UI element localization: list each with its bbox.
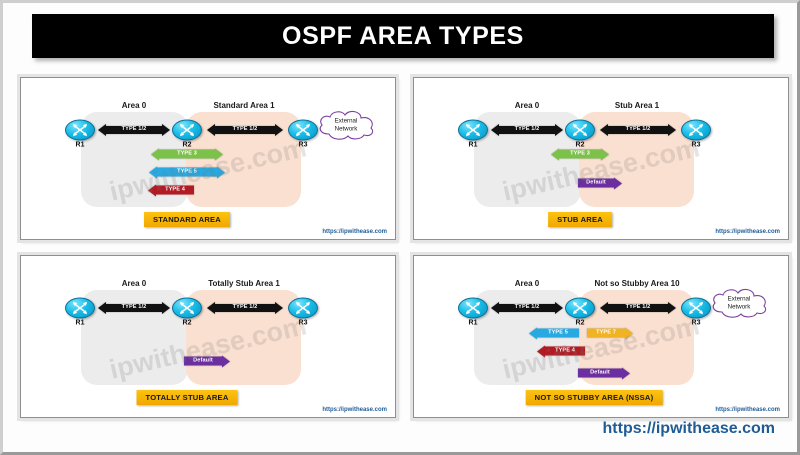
diagram-standard-area: Area 0Standard Area 1ipwithease.comR1R2R…: [21, 78, 395, 239]
external-network-cloud-icon: ExternalNetwork: [708, 286, 770, 320]
default-arrow: Default: [578, 179, 622, 188]
link-arrow-remote: TYPE 1/2: [207, 126, 283, 134]
router-arrows-icon: [681, 120, 711, 141]
panel-site-link[interactable]: https://ipwithease.com: [322, 229, 387, 235]
router-arrows-icon: [565, 298, 595, 319]
area-type-badge: STUB AREA: [548, 212, 612, 227]
default-arrow-right-head: [222, 355, 230, 367]
panel-site-link[interactable]: https://ipwithease.com: [322, 407, 387, 413]
link-arrow-core-right-head: [162, 302, 170, 314]
default-arrow-label: Default: [590, 370, 610, 376]
router-r2[interactable]: R2: [565, 120, 595, 141]
router-arrows-icon: [172, 120, 202, 141]
link-arrow-remote: TYPE 1/2: [600, 304, 676, 312]
link-arrow-remote-right-head: [275, 124, 283, 136]
router-r3-label: R3: [299, 320, 308, 327]
type-3-arrow-bar: TYPE 3: [559, 150, 601, 159]
panel-site-link[interactable]: https://ipwithease.com: [715, 407, 780, 413]
area-heading-core: Area 0: [515, 101, 539, 110]
default-arrow-bar: Default: [578, 179, 614, 188]
link-arrow-remote-bar: TYPE 1/2: [215, 304, 275, 312]
panel-stub-area: Area 0Stub Area 1ipwithease.comR1R2R3TYP…: [413, 77, 789, 240]
type-5-arrow: TYPE 5: [149, 168, 225, 177]
default-arrow-label: Default: [193, 358, 213, 364]
link-arrow-remote-left-head: [600, 124, 608, 136]
router-r1[interactable]: R1: [458, 120, 488, 141]
type-4-arrow-bar: TYPE 4: [545, 347, 585, 356]
external-network-line2: Network: [335, 125, 358, 132]
type-4-arrow-left-head: [537, 345, 545, 357]
area-type-badge: STANDARD AREA: [144, 212, 230, 227]
router-arrows-icon: [288, 298, 318, 319]
area-heading-core: Area 0: [515, 279, 539, 288]
router-arrows-icon: [172, 298, 202, 319]
link-arrow-core: TYPE 1/2: [98, 126, 170, 134]
link-arrow-core-bar: TYPE 1/2: [499, 126, 555, 134]
router-r2[interactable]: R2: [565, 298, 595, 319]
type-3-arrow-label: TYPE 3: [570, 151, 590, 157]
router-r3-label: R3: [692, 142, 701, 149]
router-r2-label: R2: [576, 320, 585, 327]
external-network-line2: Network: [728, 303, 751, 310]
link-arrow-remote-label: TYPE 1/2: [233, 305, 258, 311]
router-r3[interactable]: R3: [288, 298, 318, 319]
router-r3[interactable]: R3: [681, 120, 711, 141]
type-5-arrow-bar: TYPE 5: [157, 168, 217, 177]
area-type-badge: NOT SO STUBBY AREA (NSSA): [526, 390, 663, 405]
router-r1-label: R1: [469, 320, 478, 327]
area-heading-remote: Stub Area 1: [615, 101, 659, 110]
default-arrow-bar: Default: [184, 357, 222, 366]
panel-standard-area: Area 0Standard Area 1ipwithease.comR1R2R…: [20, 77, 396, 240]
footer-site-link[interactable]: https://ipwithease.com: [603, 420, 775, 438]
type-7-arrow-bar: TYPE 7: [587, 329, 625, 338]
router-arrows-icon: [458, 298, 488, 319]
type-5-arrow-left-head: [149, 166, 157, 178]
link-arrow-core-label: TYPE 1/2: [122, 127, 147, 133]
link-arrow-core-bar: TYPE 1/2: [106, 304, 162, 312]
router-arrows-icon: [565, 120, 595, 141]
link-arrow-core-left-head: [491, 302, 499, 314]
type-5-arrow-right-head: [217, 166, 225, 178]
link-arrow-core-label: TYPE 1/2: [122, 305, 147, 311]
link-arrow-remote-bar: TYPE 1/2: [608, 304, 668, 312]
link-arrow-core-label: TYPE 1/2: [515, 305, 540, 311]
link-arrow-core-left-head: [491, 124, 499, 136]
type-3-arrow-left-head: [551, 148, 559, 160]
router-r1[interactable]: R1: [65, 120, 95, 141]
diagram-stub-area: Area 0Stub Area 1ipwithease.comR1R2R3TYP…: [414, 78, 788, 239]
type-4-arrow-label: TYPE 4: [165, 187, 185, 193]
link-arrow-remote-left-head: [207, 124, 215, 136]
link-arrow-core-bar: TYPE 1/2: [499, 304, 555, 312]
area-type-badge: TOTALLY STUB AREA: [137, 390, 238, 405]
slide-page: OSPF AREA TYPES Area 0Standard Area 1ipw…: [0, 0, 800, 455]
external-network-line1: External: [335, 117, 358, 124]
link-arrow-core-label: TYPE 1/2: [515, 127, 540, 133]
panel-totally-stub-area: Area 0Totally Stub Area 1ipwithease.comR…: [20, 255, 396, 418]
panel-nssa-area: Area 0Not so Stubby Area 10ipwithease.co…: [413, 255, 789, 418]
router-arrows-icon: [458, 120, 488, 141]
default-arrow: Default: [184, 357, 230, 366]
area-heading-remote: Not so Stubby Area 10: [594, 279, 679, 288]
link-arrow-remote-left-head: [600, 302, 608, 314]
type-4-arrow: TYPE 4: [148, 186, 194, 195]
default-arrow-label: Default: [586, 180, 606, 186]
type-3-arrow: TYPE 3: [151, 150, 223, 159]
link-arrow-remote-bar: TYPE 1/2: [608, 126, 668, 134]
type-5-arrow-left-head: [529, 327, 537, 339]
diagram-totally-stub-area: Area 0Totally Stub Area 1ipwithease.comR…: [21, 256, 395, 417]
type-3-arrow-left-head: [151, 148, 159, 160]
link-arrow-remote-left-head: [207, 302, 215, 314]
type-3-arrow-bar: TYPE 3: [159, 150, 215, 159]
link-arrow-remote: TYPE 1/2: [600, 126, 676, 134]
router-arrows-icon: [65, 120, 95, 141]
router-r3-label: R3: [692, 320, 701, 327]
router-arrows-icon: [65, 298, 95, 319]
panel-site-link[interactable]: https://ipwithease.com: [715, 229, 780, 235]
type-4-arrow-bar: TYPE 4: [156, 186, 194, 195]
type-7-arrow-right-head: [625, 327, 633, 339]
area-heading-remote: Totally Stub Area 1: [208, 279, 280, 288]
link-arrow-remote: TYPE 1/2: [207, 304, 283, 312]
type-5-arrow-label: TYPE 5: [177, 169, 197, 175]
type-3-arrow: TYPE 3: [551, 150, 609, 159]
router-r1-label: R1: [469, 142, 478, 149]
router-arrows-icon: [681, 298, 711, 319]
router-r2-label: R2: [183, 320, 192, 327]
router-r2-label: R2: [183, 142, 192, 149]
type-4-arrow-left-head: [148, 184, 156, 196]
type-5-arrow-bar: TYPE 5: [537, 329, 579, 338]
link-arrow-core: TYPE 1/2: [98, 304, 170, 312]
type-7-arrow-label: TYPE 7: [596, 330, 616, 336]
default-arrow-bar: Default: [578, 369, 622, 378]
type-3-arrow-right-head: [601, 148, 609, 160]
diagram-nssa-area: Area 0Not so Stubby Area 10ipwithease.co…: [414, 256, 788, 417]
external-network-line1: External: [728, 295, 751, 302]
default-arrow: Default: [578, 369, 630, 378]
type-7-arrow: TYPE 7: [587, 329, 633, 338]
router-r2-label: R2: [576, 142, 585, 149]
page-title: OSPF AREA TYPES: [282, 22, 524, 51]
type-3-arrow-label: TYPE 3: [177, 151, 197, 157]
link-arrow-core-left-head: [98, 124, 106, 136]
link-arrow-remote-right-head: [668, 302, 676, 314]
link-arrow-remote-label: TYPE 1/2: [233, 127, 258, 133]
type-4-arrow-label: TYPE 4: [555, 348, 575, 354]
link-arrow-remote-bar: TYPE 1/2: [215, 126, 275, 134]
type-4-arrow: TYPE 4: [537, 347, 585, 356]
router-r1[interactable]: R1: [65, 298, 95, 319]
router-r3[interactable]: R3: [681, 298, 711, 319]
router-r1-label: R1: [76, 320, 85, 327]
link-arrow-core-right-head: [162, 124, 170, 136]
external-network-cloud-icon: ExternalNetwork: [315, 108, 377, 142]
link-arrow-remote-right-head: [668, 124, 676, 136]
link-arrow-remote-label: TYPE 1/2: [626, 305, 651, 311]
router-r3-label: R3: [299, 142, 308, 149]
page-title-bar: OSPF AREA TYPES: [32, 14, 774, 58]
router-r1-label: R1: [76, 142, 85, 149]
router-r1[interactable]: R1: [458, 298, 488, 319]
type-5-arrow-label: TYPE 5: [548, 330, 568, 336]
area-heading-remote: Standard Area 1: [213, 101, 274, 110]
link-arrow-remote-label: TYPE 1/2: [626, 127, 651, 133]
area-heading-core: Area 0: [122, 279, 146, 288]
type-5-arrow: TYPE 5: [529, 329, 579, 338]
link-arrow-core: TYPE 1/2: [491, 304, 563, 312]
external-network-label: ExternalNetwork: [335, 117, 358, 133]
router-r2[interactable]: R2: [172, 298, 202, 319]
external-network-label: ExternalNetwork: [728, 295, 751, 311]
type-3-arrow-right-head: [215, 148, 223, 160]
area-heading-core: Area 0: [122, 101, 146, 110]
router-arrows-icon: [288, 120, 318, 141]
router-r3[interactable]: R3: [288, 120, 318, 141]
router-r2[interactable]: R2: [172, 120, 202, 141]
default-arrow-right-head: [622, 367, 630, 379]
link-arrow-remote-right-head: [275, 302, 283, 314]
link-arrow-core: TYPE 1/2: [491, 126, 563, 134]
link-arrow-core-right-head: [555, 302, 563, 314]
link-arrow-core-bar: TYPE 1/2: [106, 126, 162, 134]
default-arrow-right-head: [614, 177, 622, 189]
link-arrow-core-right-head: [555, 124, 563, 136]
link-arrow-core-left-head: [98, 302, 106, 314]
